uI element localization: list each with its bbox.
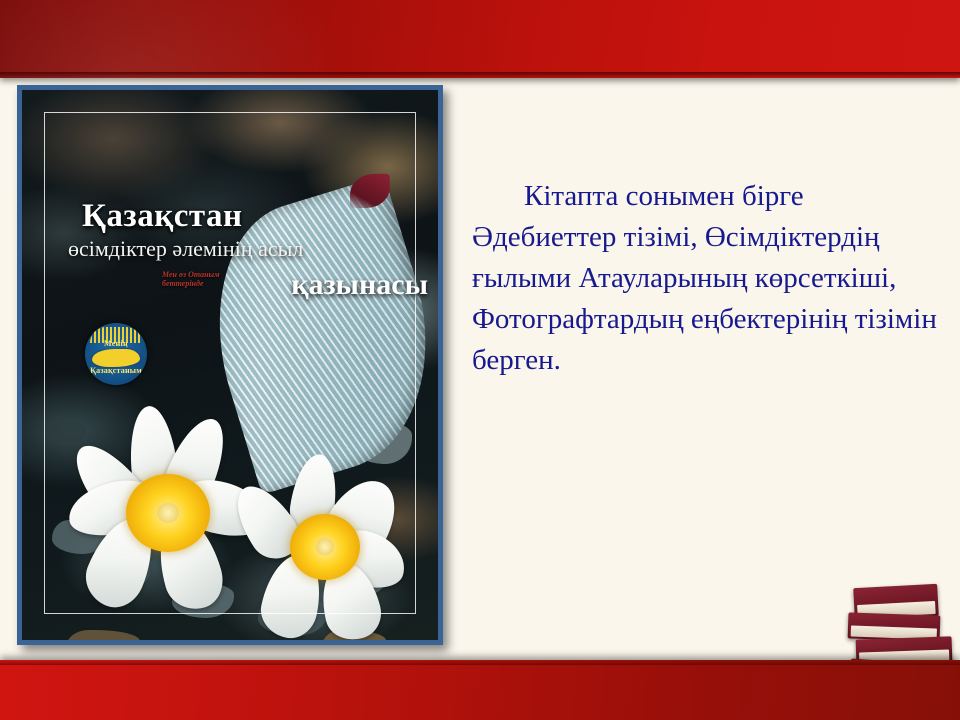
bottom-red-banner — [0, 660, 960, 720]
top-red-banner — [0, 0, 960, 78]
cover-red-subtitle: Мен өз Отаным беттерінде — [162, 270, 254, 288]
emblem-top-text: Менің — [85, 339, 147, 348]
cover-title-line2: өсімдіктер әлемінің асыл — [68, 236, 428, 262]
flower-center — [290, 514, 360, 580]
tulip-flower-secondary — [236, 458, 406, 638]
slide: Қазақстан өсімдіктер әлемінің асыл қазын… — [0, 0, 960, 720]
book-cover-image[interactable]: Қазақстан өсімдіктер әлемінің асыл қазын… — [17, 85, 443, 645]
emblem-bottom-text: Қазақстаным — [85, 366, 147, 375]
cover-title-line1: Қазақстан — [82, 198, 412, 235]
kazakhstan-emblem-badge: Менің Қазақстаным — [85, 323, 147, 385]
kazakhstan-map-icon — [92, 349, 140, 367]
flower-center — [126, 474, 210, 552]
book-cover-artwork: Қазақстан өсімдіктер әлемінің асыл қазын… — [22, 90, 438, 640]
body-paragraph: Кітапта сонымен бірге Әдебиеттер тізімі,… — [472, 176, 942, 381]
